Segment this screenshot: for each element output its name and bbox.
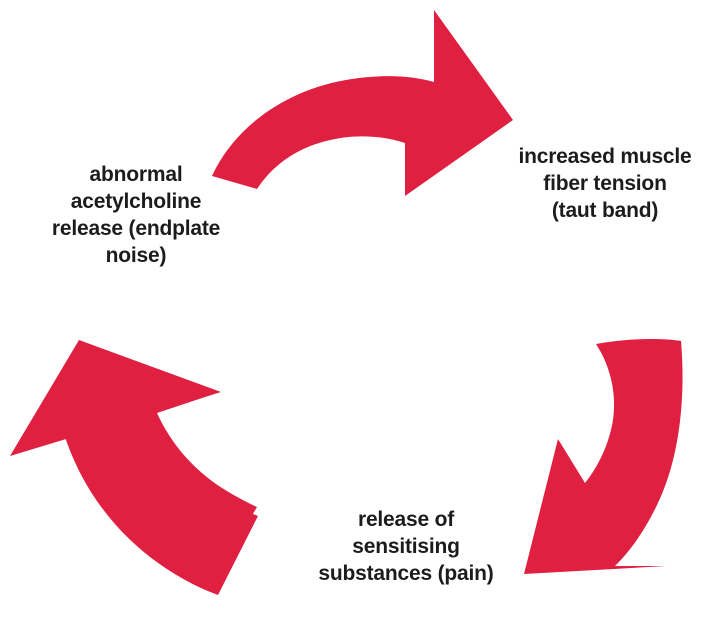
arrow-right-shape bbox=[524, 339, 683, 574]
diagram-canvas: abnormal acetylcholine release (endplate… bbox=[0, 0, 726, 628]
label-abnormal-acetylcholine-release: abnormal acetylcholine release (endplate… bbox=[8, 161, 264, 269]
label-release-of-sensitising-substances: release of sensitising substances (pain) bbox=[283, 506, 529, 587]
label-increased-muscle-fiber-tension: increased muscle fiber tension (taut ban… bbox=[487, 143, 723, 224]
